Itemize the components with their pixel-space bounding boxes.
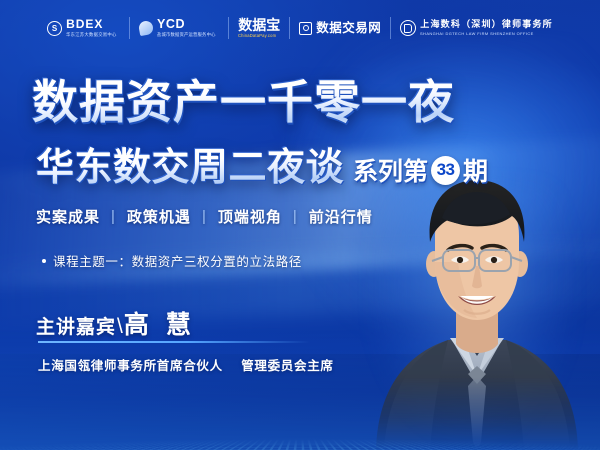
logo-ycd-subtitle: 盐城市数据资产运营服务中心 bbox=[157, 33, 216, 37]
headline-primary: 数据资产一千零一夜 bbox=[32, 66, 455, 132]
course-topic: 课程主题一：数据资产三权分置的立法路径 bbox=[42, 251, 302, 270]
water-drop-icon bbox=[139, 21, 153, 35]
law-seal-icon bbox=[400, 20, 416, 36]
series-number-badge: 33 bbox=[431, 156, 460, 185]
speaker-credentials-part1: 上海国瓴律师事务所首席合伙人 bbox=[38, 359, 223, 373]
speaker-block: 主讲嘉宾 \ 高 慧 bbox=[36, 305, 196, 341]
logo-dgtech-law: 上海数科（深圳）律师事务所 SHANGHAI DGTECH LAW FIRM S… bbox=[391, 11, 562, 45]
speaker-credentials-part2: 管理委员会主席 bbox=[241, 359, 333, 373]
promo-poster: S BDEX 华东江苏大数据交易中心 YCD 盐城市数据资产运营服务中心 数据宝… bbox=[0, 0, 600, 450]
speaker-name: 高 慧 bbox=[124, 305, 196, 341]
tagline-row: 实案成果 | 政策机遇 | 顶端视角 | 前沿行情 bbox=[36, 206, 373, 227]
speaker-slash: \ bbox=[117, 315, 123, 339]
floor-haze bbox=[0, 330, 600, 450]
series-suffix: 期 bbox=[463, 152, 488, 188]
grid-blocks-secondary bbox=[0, 435, 600, 450]
headline-secondary-row: 华东数交周二夜谈 系列第 33 期 bbox=[36, 136, 488, 191]
series-label: 系列第 33 期 bbox=[353, 152, 488, 191]
logo-bdex-name: BDEX bbox=[66, 18, 120, 30]
speaker-label: 主讲嘉宾 bbox=[36, 312, 116, 339]
logo-dgtech-law-subtitle: SHANGHAI DGTECH LAW FIRM SHENZHEN OFFICE bbox=[420, 32, 545, 36]
headline-secondary: 华东数交周二夜谈 bbox=[36, 136, 344, 191]
speaker-credentials: 上海国瓴律师事务所首席合伙人 管理委员会主席 bbox=[38, 355, 334, 374]
logo-ycd: YCD 盐城市数据资产运营服务中心 bbox=[130, 11, 228, 45]
sponsor-logo-bar: S BDEX 华东江苏大数据交易中心 YCD 盐城市数据资产运营服务中心 数据宝… bbox=[0, 0, 600, 56]
tagline-item-2: 政策机遇 bbox=[127, 206, 191, 227]
logo-bdex-subtitle: 华东江苏大数据交易中心 bbox=[66, 33, 117, 37]
tagline-item-3: 顶端视角 bbox=[218, 206, 282, 227]
portrait-backlight bbox=[372, 186, 572, 436]
square-badge-icon bbox=[299, 22, 312, 35]
logo-bdex: S BDEX 华东江苏大数据交易中心 bbox=[38, 11, 129, 45]
tagline-item-4: 前沿行情 bbox=[309, 206, 373, 227]
logo-chinadatapay: 数据宝 ChinaDataPay.com bbox=[229, 11, 289, 45]
logo-data-exchange-name: 数据交易网 bbox=[316, 22, 381, 35]
spiral-circle-icon: S bbox=[47, 21, 62, 36]
logo-chinadatapay-subtitle: ChinaDataPay.com bbox=[238, 34, 277, 38]
tagline-separator: | bbox=[293, 208, 298, 225]
series-prefix: 系列第 bbox=[353, 152, 428, 188]
speaker-divider bbox=[38, 341, 310, 343]
logo-dgtech-law-name: 上海数科（深圳）律师事务所 bbox=[420, 20, 553, 29]
logo-chinadatapay-name: 数据宝 bbox=[238, 18, 280, 32]
logo-data-exchange: 数据交易网 bbox=[290, 11, 390, 45]
bullet-dot-icon bbox=[42, 259, 46, 263]
tagline-separator: | bbox=[111, 208, 116, 225]
tagline-item-1: 实案成果 bbox=[36, 206, 100, 227]
course-topic-text: 课程主题一：数据资产三权分置的立法路径 bbox=[53, 251, 302, 270]
speaker-portrait bbox=[372, 170, 582, 450]
tagline-separator: | bbox=[202, 208, 207, 225]
logo-ycd-name: YCD bbox=[157, 18, 219, 31]
